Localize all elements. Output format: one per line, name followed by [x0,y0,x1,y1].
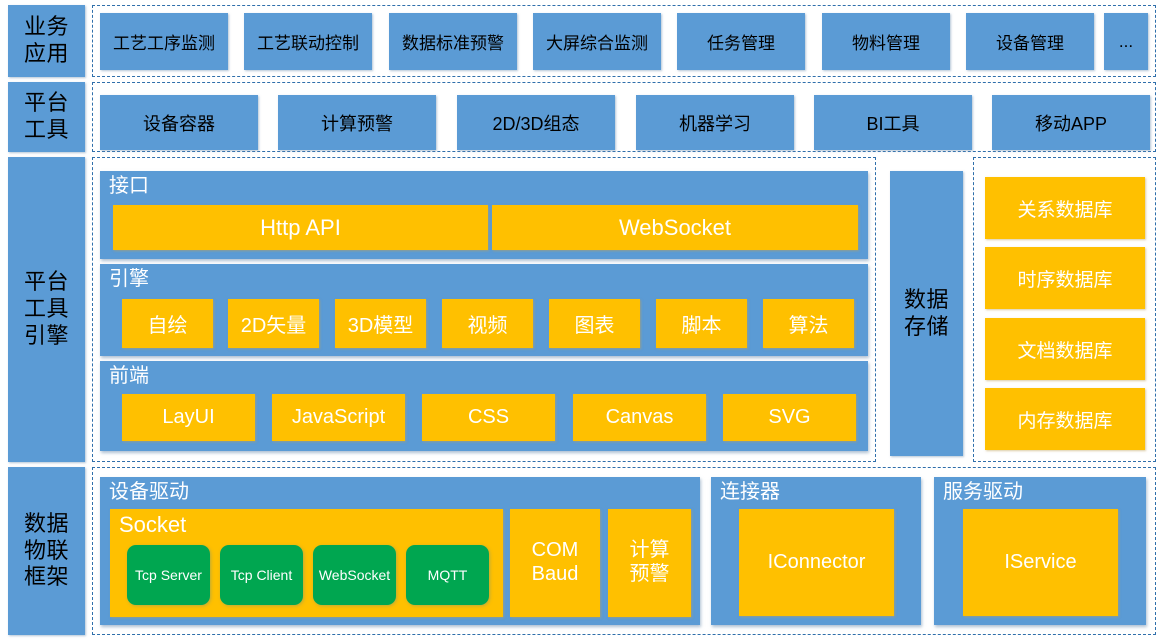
connector-box-iconnector[interactable]: IConnector [739,509,894,616]
engine-box-chart[interactable]: 图表 [549,299,640,348]
frontend-box-label: SVG [768,406,810,429]
engine-box-label: 2D矢量 [241,309,307,338]
panel-title-connector: 连接器 [720,481,780,503]
database-box-time-series[interactable]: 时序数据库 [985,247,1145,309]
interface-box-label: Http API [260,215,341,241]
database-box-relational[interactable]: 关系数据库 [985,177,1145,239]
socket-box-label: Tcp Server [135,567,202,583]
sidebar-label-line2: 物联 [24,538,69,565]
engine-box-script[interactable]: 脚本 [656,299,747,348]
engine-box-label: 算法 [789,309,829,338]
sidebar-label-data-iot-framework: 数据 物联 框架 [8,467,85,635]
panel-title-service-driver: 服务驱动 [943,481,1023,503]
architecture-diagram: 业务 应用 工艺工序监测 工艺联动控制 数据标准预警 大屏综合监测 任务管理 物… [0,0,1164,640]
interface-box-label: WebSocket [619,215,731,241]
app-box-label: ... [1119,32,1133,52]
frontend-box-canvas[interactable]: Canvas [573,394,706,441]
app-box-label: 任务管理 [707,29,775,54]
sidebar-label-platform-tools: 平台 工具 [8,82,85,152]
sidebar-label-line1: 平台 [24,269,69,296]
device-driver-box-label-line1: COM [532,539,579,563]
sidebar-label-line1: 数据 [24,511,69,538]
database-box-document[interactable]: 文档数据库 [985,318,1145,380]
socket-box-label: WebSocket [319,567,390,583]
app-box-label: 设备管理 [996,29,1064,54]
engine-box-label: 视频 [468,309,508,338]
app-box-label: 物料管理 [852,29,920,54]
sidebar-label-line1: 平台 [24,90,69,117]
app-box-process-monitoring[interactable]: 工艺工序监测 [100,13,228,70]
engine-box-3d-model[interactable]: 3D模型 [335,299,426,348]
app-box-label: 大屏综合监测 [546,29,648,54]
socket-box-tcp-server[interactable]: Tcp Server [127,545,210,605]
tool-box-mobile-app[interactable]: 移动APP [992,95,1150,150]
device-driver-box-label-line2: 预警 [630,563,670,587]
sidebar-label-line3: 框架 [24,564,69,591]
database-box-label: 文档数据库 [1017,336,1112,363]
sidebar-label-line2: 应用 [24,41,69,68]
database-box-label: 关系数据库 [1017,195,1112,222]
tool-box-calculation-alarm[interactable]: 计算预警 [278,95,436,150]
tool-box-machine-learning[interactable]: 机器学习 [636,95,794,150]
tool-box-bi-tools[interactable]: BI工具 [814,95,972,150]
tool-box-label: 移动APP [1035,110,1107,136]
data-storage-label-line1: 数据 [904,287,949,314]
frontend-box-label: JavaScript [292,406,385,429]
engine-box-label: 自绘 [148,309,188,338]
app-box-equipment-management[interactable]: 设备管理 [966,13,1094,70]
sidebar-label-business-application: 业务 应用 [8,5,85,77]
app-box-process-linkage-control[interactable]: 工艺联动控制 [244,13,372,70]
tool-box-device-container[interactable]: 设备容器 [100,95,258,150]
app-box-large-screen-monitoring[interactable]: 大屏综合监测 [533,13,661,70]
service-driver-box-iservice[interactable]: IService [963,509,1118,616]
data-storage-label-line2: 存储 [904,314,949,341]
tool-box-label: 2D/3D组态 [492,110,579,136]
socket-box-tcp-client[interactable]: Tcp Client [220,545,303,605]
device-driver-box-label-line2: Baud [532,563,579,587]
socket-label: Socket [119,512,186,538]
engine-box-2d-vector[interactable]: 2D矢量 [228,299,319,348]
panel-title-interface: 接口 [109,175,149,197]
app-box-label: 数据标准预警 [402,29,504,54]
frontend-box-layui[interactable]: LayUI [122,394,255,441]
interface-box-websocket[interactable]: WebSocket [492,205,858,250]
sidebar-label-line2: 工具 [24,296,69,323]
engine-box-label: 3D模型 [348,309,414,338]
interface-box-http-api[interactable]: Http API [113,205,488,250]
app-box-task-management[interactable]: 任务管理 [677,13,805,70]
engine-box-video[interactable]: 视频 [442,299,533,348]
engine-box-label: 脚本 [682,309,722,338]
app-box-label: 工艺工序监测 [113,29,215,54]
tool-box-label: 机器学习 [679,110,751,136]
tool-box-2d-3d-configuration[interactable]: 2D/3D组态 [457,95,615,150]
device-driver-box-calculation-alarm[interactable]: 计算 预警 [608,509,691,617]
panel-title-device-driver: 设备驱动 [109,481,189,503]
frontend-box-label: CSS [468,406,509,429]
engine-box-self-drawing[interactable]: 自绘 [122,299,213,348]
device-driver-box-com-baud[interactable]: COM Baud [510,509,600,617]
app-box-more[interactable]: ... [1104,13,1148,70]
connector-box-label: IConnector [768,551,866,574]
service-driver-box-label: IService [1004,551,1076,574]
panel-title-engine: 引擎 [109,268,149,290]
engine-box-label: 图表 [575,309,615,338]
socket-box-websocket[interactable]: WebSocket [313,545,396,605]
app-box-material-management[interactable]: 物料管理 [822,13,950,70]
panel-title-frontend: 前端 [109,365,149,387]
app-box-label: 工艺联动控制 [257,29,359,54]
socket-box-mqtt[interactable]: MQTT [406,545,489,605]
tool-box-label: BI工具 [866,110,919,136]
frontend-box-css[interactable]: CSS [422,394,555,441]
data-storage-label: 数据 存储 [890,171,963,456]
sidebar-label-line3: 引擎 [24,323,69,350]
frontend-box-svg[interactable]: SVG [723,394,856,441]
engine-box-algorithm[interactable]: 算法 [763,299,854,348]
socket-box-label: MQTT [428,567,468,583]
socket-box-label: Tcp Client [231,567,292,583]
sidebar-label-platform-tool-engine: 平台 工具 引擎 [8,157,85,462]
database-box-label: 内存数据库 [1017,406,1112,433]
sidebar-label-line2: 工具 [24,117,69,144]
tool-box-label: 计算预警 [321,110,393,136]
frontend-box-label: Canvas [606,406,674,429]
app-box-data-standard-alarm[interactable]: 数据标准预警 [389,13,517,70]
device-driver-box-label-line1: 计算 [630,539,670,563]
sidebar-label-line1: 业务 [24,14,69,41]
database-box-label: 时序数据库 [1017,265,1112,292]
tool-box-label: 设备容器 [143,110,215,136]
frontend-box-label: LayUI [162,406,214,429]
frontend-box-javascript[interactable]: JavaScript [272,394,405,441]
database-box-in-memory[interactable]: 内存数据库 [985,388,1145,450]
